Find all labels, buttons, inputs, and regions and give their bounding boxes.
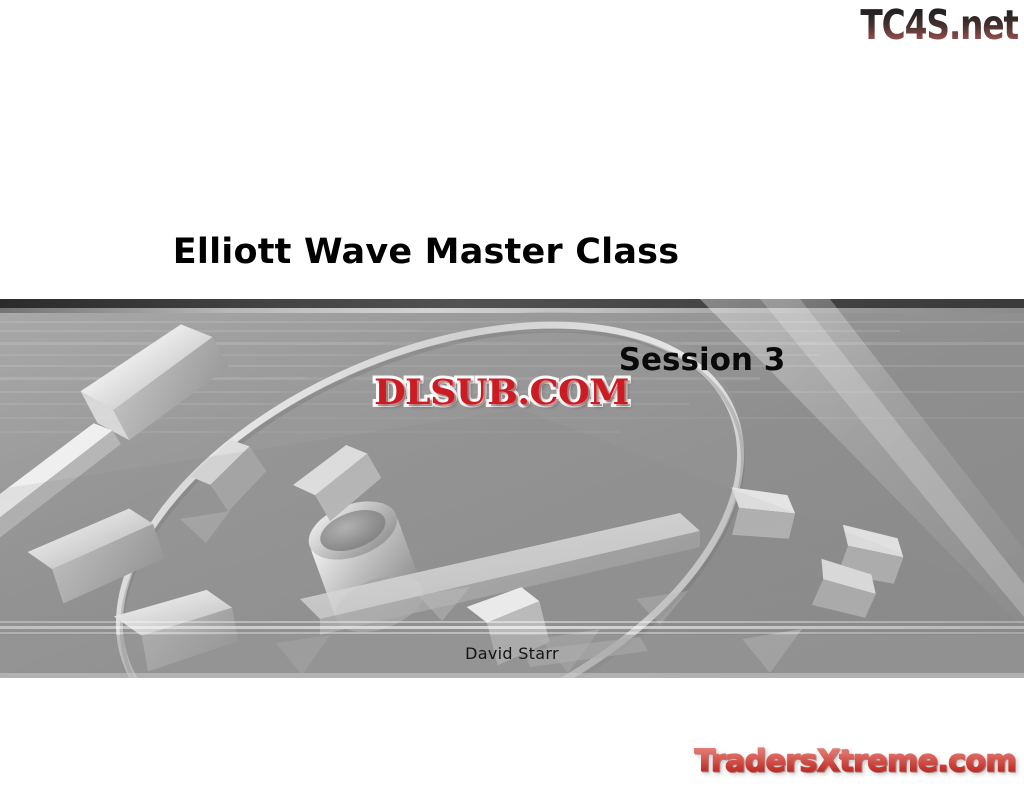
tradersxtreme-logo-wrap[interactable]: TradersXtreme.com TradersXtreme.com — [686, 743, 1016, 783]
tradersxtreme-logo[interactable]: TradersXtreme.com — [694, 743, 1016, 781]
tc4s-logo[interactable]: TC4S.net — [860, 2, 1018, 48]
presenter-name: David Starr — [0, 644, 1024, 663]
page-title: Elliott Wave Master Class — [0, 232, 1024, 272]
presentation-slide: TC4S.net Elliott Wave Master Class — [0, 0, 1024, 791]
dlsub-watermark: DLSUB.COM — [374, 372, 629, 413]
